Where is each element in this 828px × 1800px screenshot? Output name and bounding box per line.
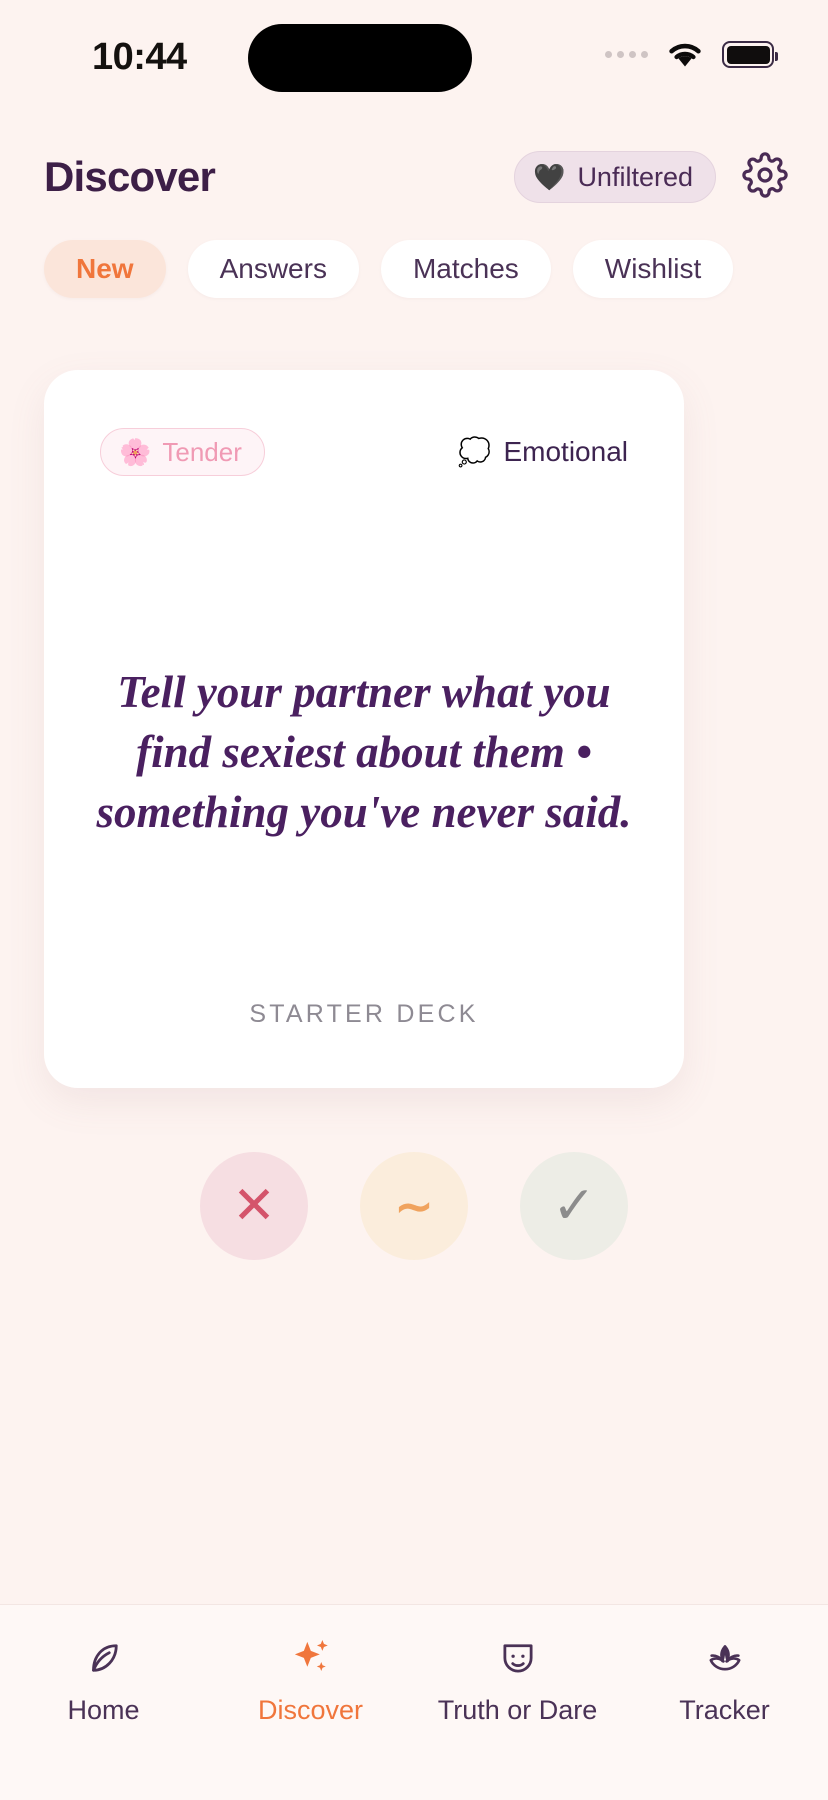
gear-icon xyxy=(742,152,788,203)
cherry-blossom-icon: 🌸 xyxy=(119,439,151,465)
dislike-button[interactable]: ✕ xyxy=(200,1152,308,1260)
discover-tab-bar: New Answers Matches Wishlist xyxy=(44,240,733,298)
tab-wishlist[interactable]: Wishlist xyxy=(573,240,733,298)
deck-label: STARTER DECK xyxy=(44,1000,684,1029)
battery-full-icon xyxy=(722,41,774,68)
tilde-icon: ∼ xyxy=(395,1183,434,1229)
settings-button[interactable] xyxy=(740,152,790,202)
tab-new-label: New xyxy=(76,253,134,285)
tone-badge-tender[interactable]: 🌸 Tender xyxy=(100,428,265,476)
tab-wishlist-label: Wishlist xyxy=(605,253,701,285)
dynamic-island xyxy=(248,24,472,92)
page-title: Discover xyxy=(44,148,215,206)
sparkle-icon xyxy=(289,1635,333,1681)
check-icon: ✓ xyxy=(552,1180,596,1232)
status-bar: 10:44 xyxy=(0,0,828,118)
card-prompt-text: Tell your partner what you find sexiest … xyxy=(94,662,634,842)
nav-item-home[interactable]: Home xyxy=(0,1635,207,1726)
status-time: 10:44 xyxy=(92,36,187,79)
bottom-navigation: Home Discover Truth or Dare xyxy=(0,1604,828,1800)
black-heart-icon: 🖤 xyxy=(533,164,565,190)
tab-new[interactable]: New xyxy=(44,240,166,298)
card-action-row: ✕ ∼ ✓ xyxy=(0,1152,828,1260)
leaf-icon xyxy=(83,1635,125,1681)
page-header: Discover 🖤 Unfiltered xyxy=(0,148,828,210)
card-badge-row: 🌸 Tender 💭 Emotional xyxy=(44,428,684,476)
theater-mask-icon xyxy=(497,1635,539,1681)
tab-matches-label: Matches xyxy=(413,253,519,285)
wifi-icon xyxy=(666,40,704,69)
nav-item-truth-or-dare-label: Truth or Dare xyxy=(438,1695,598,1726)
nav-item-tracker-label: Tracker xyxy=(679,1695,770,1726)
thought-balloon-icon: 💭 xyxy=(458,439,492,466)
mood-badge-emotional: 💭 Emotional xyxy=(458,436,628,468)
tab-matches[interactable]: Matches xyxy=(381,240,551,298)
nav-item-discover-label: Discover xyxy=(258,1695,363,1726)
cross-icon: ✕ xyxy=(232,1180,276,1232)
nav-item-tracker[interactable]: Tracker xyxy=(621,1635,828,1726)
mood-badge-label: Emotional xyxy=(503,436,628,468)
status-indicators xyxy=(605,40,774,69)
like-button[interactable]: ✓ xyxy=(520,1152,628,1260)
tab-answers[interactable]: Answers xyxy=(188,240,359,298)
maybe-button[interactable]: ∼ xyxy=(360,1152,468,1260)
prompt-card[interactable]: 🌸 Tender 💭 Emotional Tell your partner w… xyxy=(44,370,684,1088)
cellular-dots-icon xyxy=(605,51,648,58)
filter-pill-unfiltered[interactable]: 🖤 Unfiltered xyxy=(514,151,716,203)
nav-item-home-label: Home xyxy=(67,1695,139,1726)
nav-item-discover[interactable]: Discover xyxy=(207,1635,414,1726)
nav-item-truth-or-dare[interactable]: Truth or Dare xyxy=(414,1635,621,1726)
filter-pill-label: Unfiltered xyxy=(577,162,693,193)
tab-answers-label: Answers xyxy=(220,253,327,285)
lotus-icon xyxy=(703,1635,747,1681)
tone-badge-label: Tender xyxy=(162,437,242,468)
